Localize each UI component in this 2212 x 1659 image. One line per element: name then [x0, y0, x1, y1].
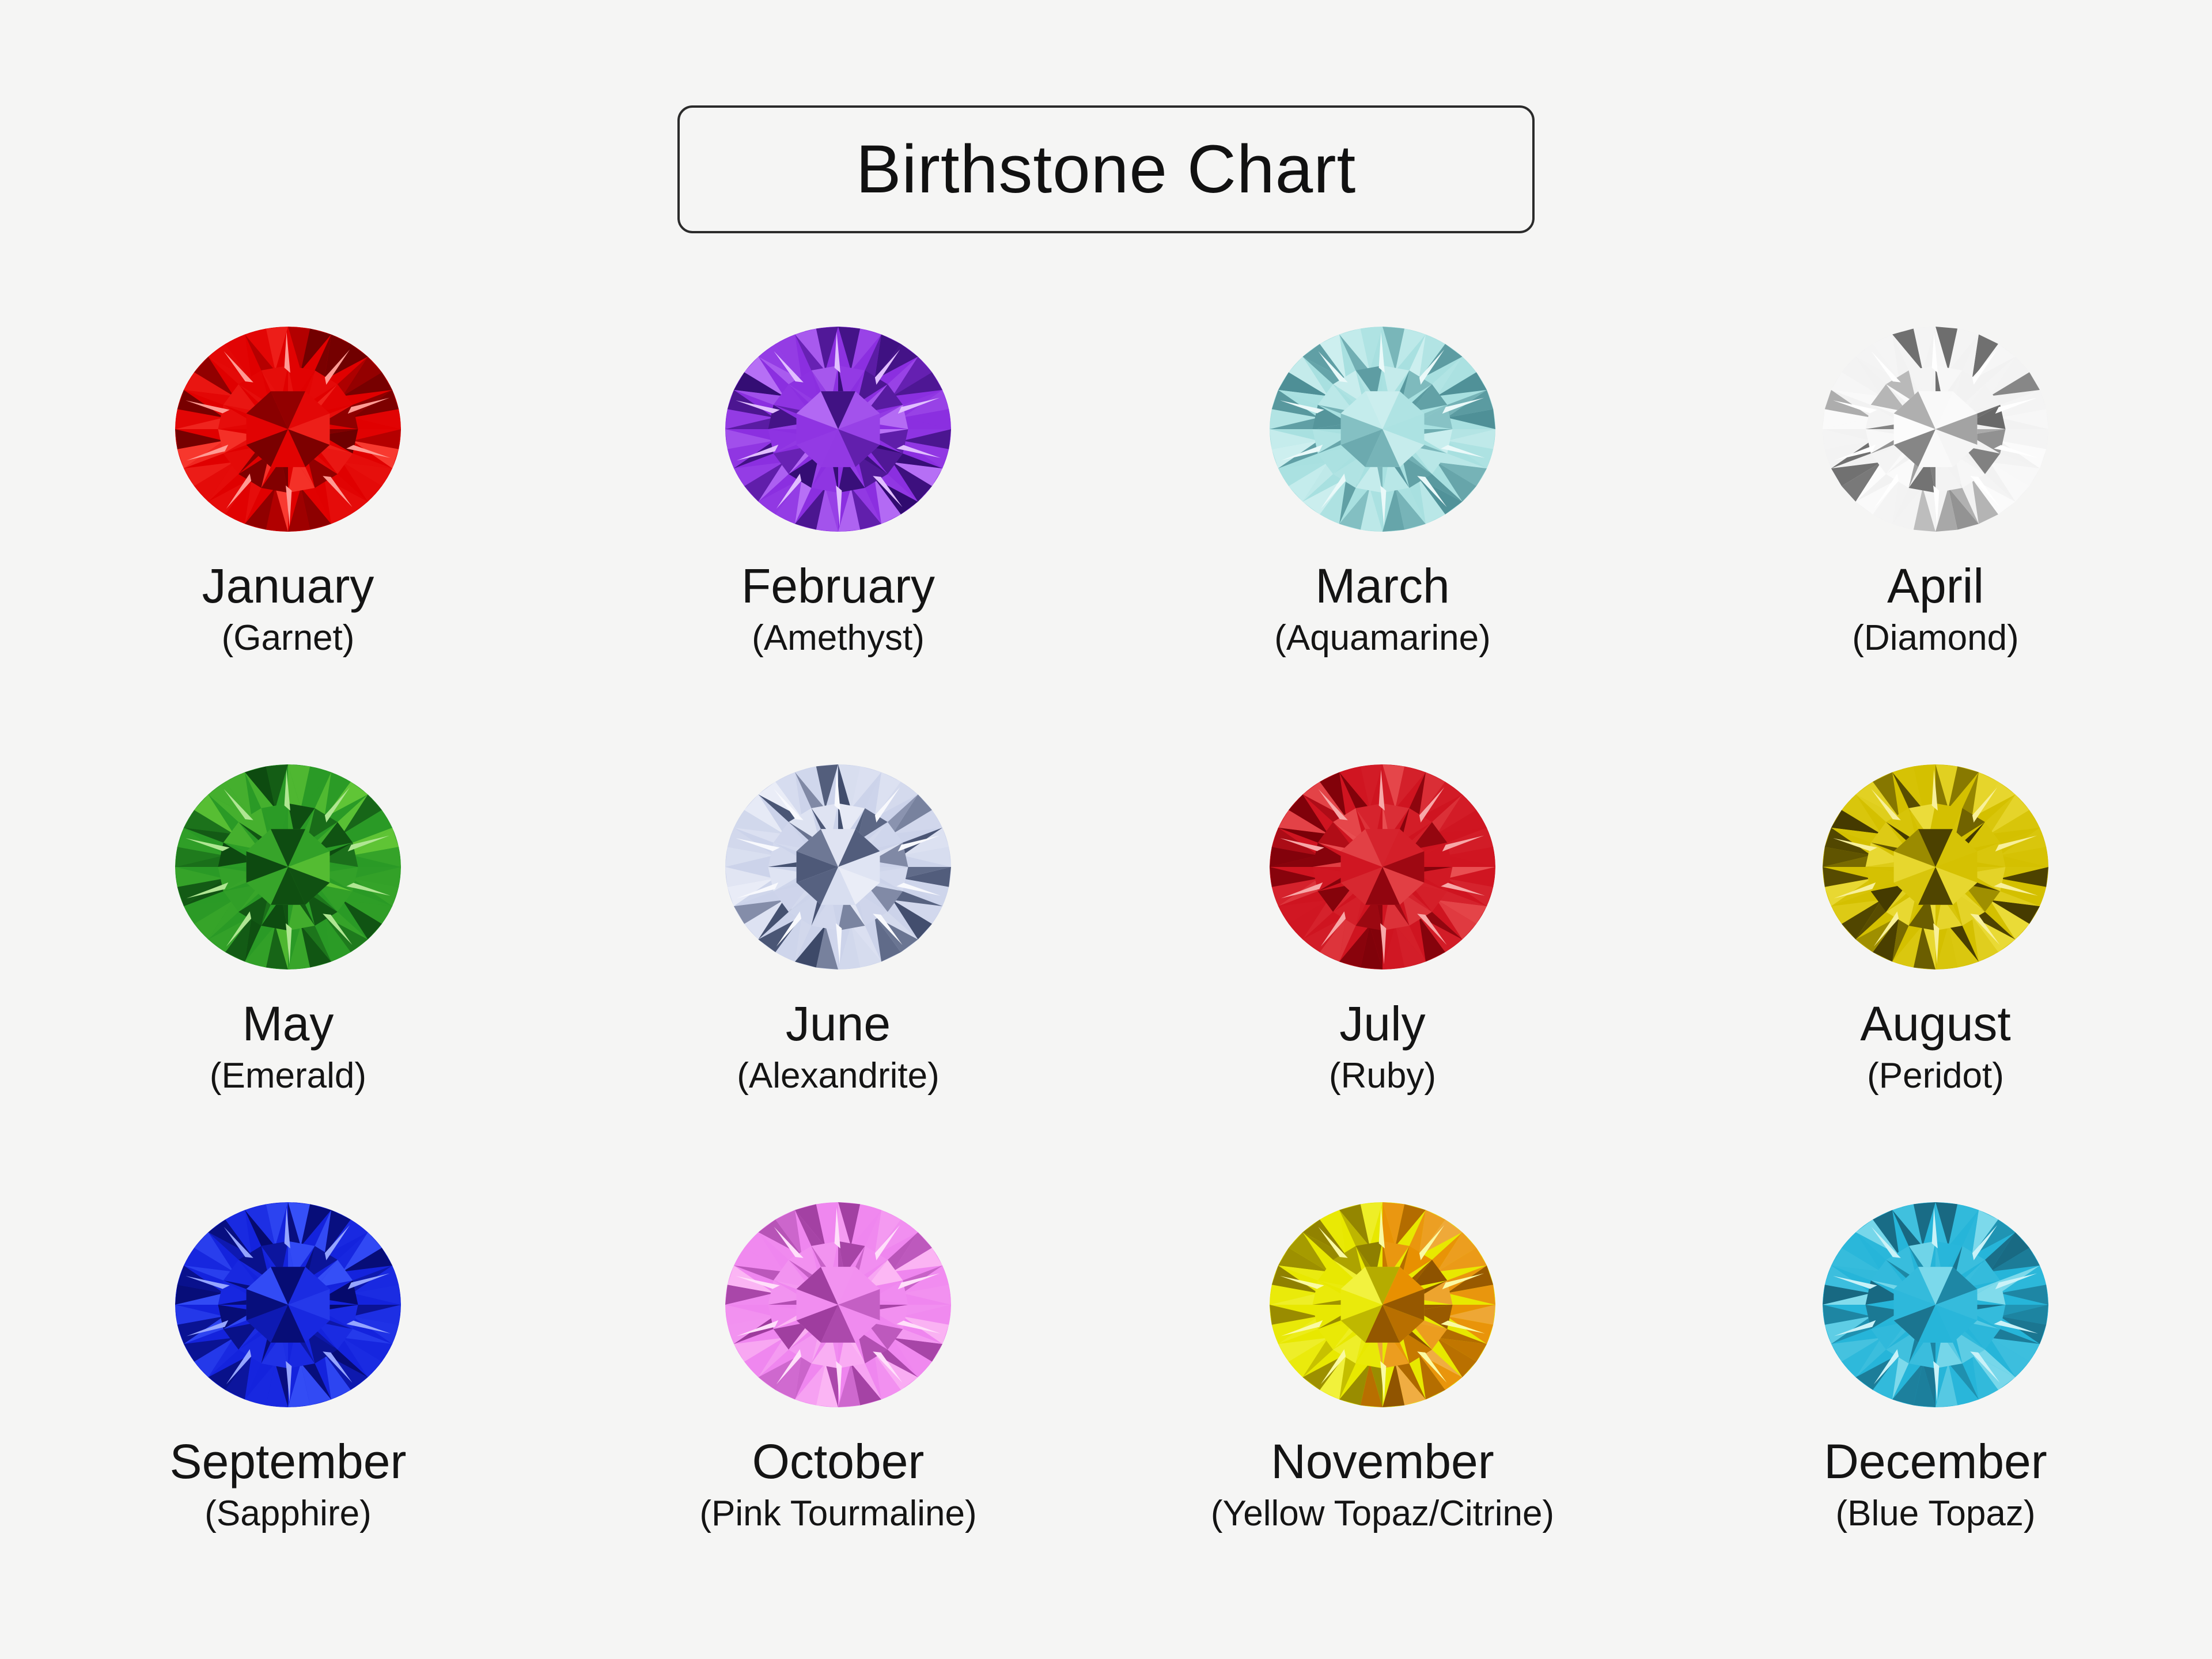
- stone-name-label: (Pink Tourmaline): [699, 1496, 976, 1532]
- month-label: May: [243, 999, 334, 1048]
- month-label: April: [1887, 562, 1984, 610]
- diamond-gem-wrap: [1820, 314, 2051, 544]
- month-label: February: [741, 562, 935, 610]
- yellow-topaz-citrine-gem-wrap: [1267, 1190, 1498, 1420]
- birthstone-cell: February(Amethyst): [553, 314, 1106, 752]
- page-title: Birthstone Chart: [856, 135, 1357, 203]
- birthstone-chart-page: Birthstone Chart January(Garnet)February…: [0, 0, 2212, 1659]
- garnet-gem-wrap: [173, 314, 403, 544]
- stone-name-label: (Blue Topaz): [1836, 1496, 2036, 1532]
- emerald-gem: [173, 752, 403, 982]
- stone-name-label: (Sapphire): [204, 1496, 371, 1532]
- aquamarine-gem-wrap: [1267, 314, 1498, 544]
- peridot-gem-wrap: [1820, 752, 2051, 982]
- month-label: June: [786, 999, 891, 1048]
- birthstone-cell: April(Diamond): [1659, 314, 2212, 752]
- diamond-gem: [1820, 314, 2051, 544]
- month-label: August: [1860, 999, 2011, 1048]
- pink-tourmaline-gem: [723, 1190, 953, 1420]
- stone-name-label: (Aquamarine): [1274, 620, 1491, 656]
- birthstone-cell: December(Blue Topaz): [1659, 1190, 2212, 1627]
- yellow-topaz-citrine-gem: [1267, 1190, 1498, 1420]
- month-label: December: [1824, 1437, 2047, 1486]
- alexandrite-gem-wrap: [723, 752, 953, 982]
- birthstone-cell: June(Alexandrite): [553, 752, 1106, 1190]
- emerald-gem-wrap: [173, 752, 403, 982]
- pink-tourmaline-gem-wrap: [723, 1190, 953, 1420]
- aquamarine-gem: [1267, 314, 1498, 544]
- birthstone-cell: August(Peridot): [1659, 752, 2212, 1190]
- month-label: March: [1315, 562, 1449, 610]
- birthstone-grid: January(Garnet)February(Amethyst)March(A…: [0, 314, 2212, 1627]
- blue-topaz-gem-wrap: [1820, 1190, 2051, 1420]
- chart-title-box: Birthstone Chart: [677, 105, 1535, 233]
- stone-name-label: (Yellow Topaz/Citrine): [1211, 1496, 1554, 1532]
- stone-name-label: (Garnet): [222, 620, 355, 656]
- birthstone-cell: September(Sapphire): [0, 1190, 553, 1627]
- birthstone-cell: March(Aquamarine): [1106, 314, 1659, 752]
- ruby-gem: [1267, 752, 1498, 982]
- alexandrite-gem: [723, 752, 953, 982]
- stone-name-label: (Diamond): [1852, 620, 2018, 656]
- birthstone-cell: July(Ruby): [1106, 752, 1659, 1190]
- stone-name-label: (Alexandrite): [737, 1058, 939, 1094]
- blue-topaz-gem: [1820, 1190, 2051, 1420]
- ruby-gem-wrap: [1267, 752, 1498, 982]
- stone-name-label: (Amethyst): [752, 620, 925, 656]
- sapphire-gem: [173, 1190, 403, 1420]
- month-label: July: [1339, 999, 1425, 1048]
- birthstone-cell: May(Emerald): [0, 752, 553, 1190]
- month-label: September: [170, 1437, 407, 1486]
- birthstone-cell: January(Garnet): [0, 314, 553, 752]
- sapphire-gem-wrap: [173, 1190, 403, 1420]
- month-label: November: [1271, 1437, 1494, 1486]
- peridot-gem: [1820, 752, 2051, 982]
- stone-name-label: (Peridot): [1867, 1058, 2004, 1094]
- month-label: January: [202, 562, 374, 610]
- garnet-gem: [173, 314, 403, 544]
- amethyst-gem: [723, 314, 953, 544]
- month-label: October: [752, 1437, 925, 1486]
- stone-name-label: (Emerald): [210, 1058, 366, 1094]
- stone-name-label: (Ruby): [1329, 1058, 1436, 1094]
- birthstone-cell: October(Pink Tourmaline): [553, 1190, 1106, 1627]
- amethyst-gem-wrap: [723, 314, 953, 544]
- birthstone-cell: November(Yellow Topaz/Citrine): [1106, 1190, 1659, 1627]
